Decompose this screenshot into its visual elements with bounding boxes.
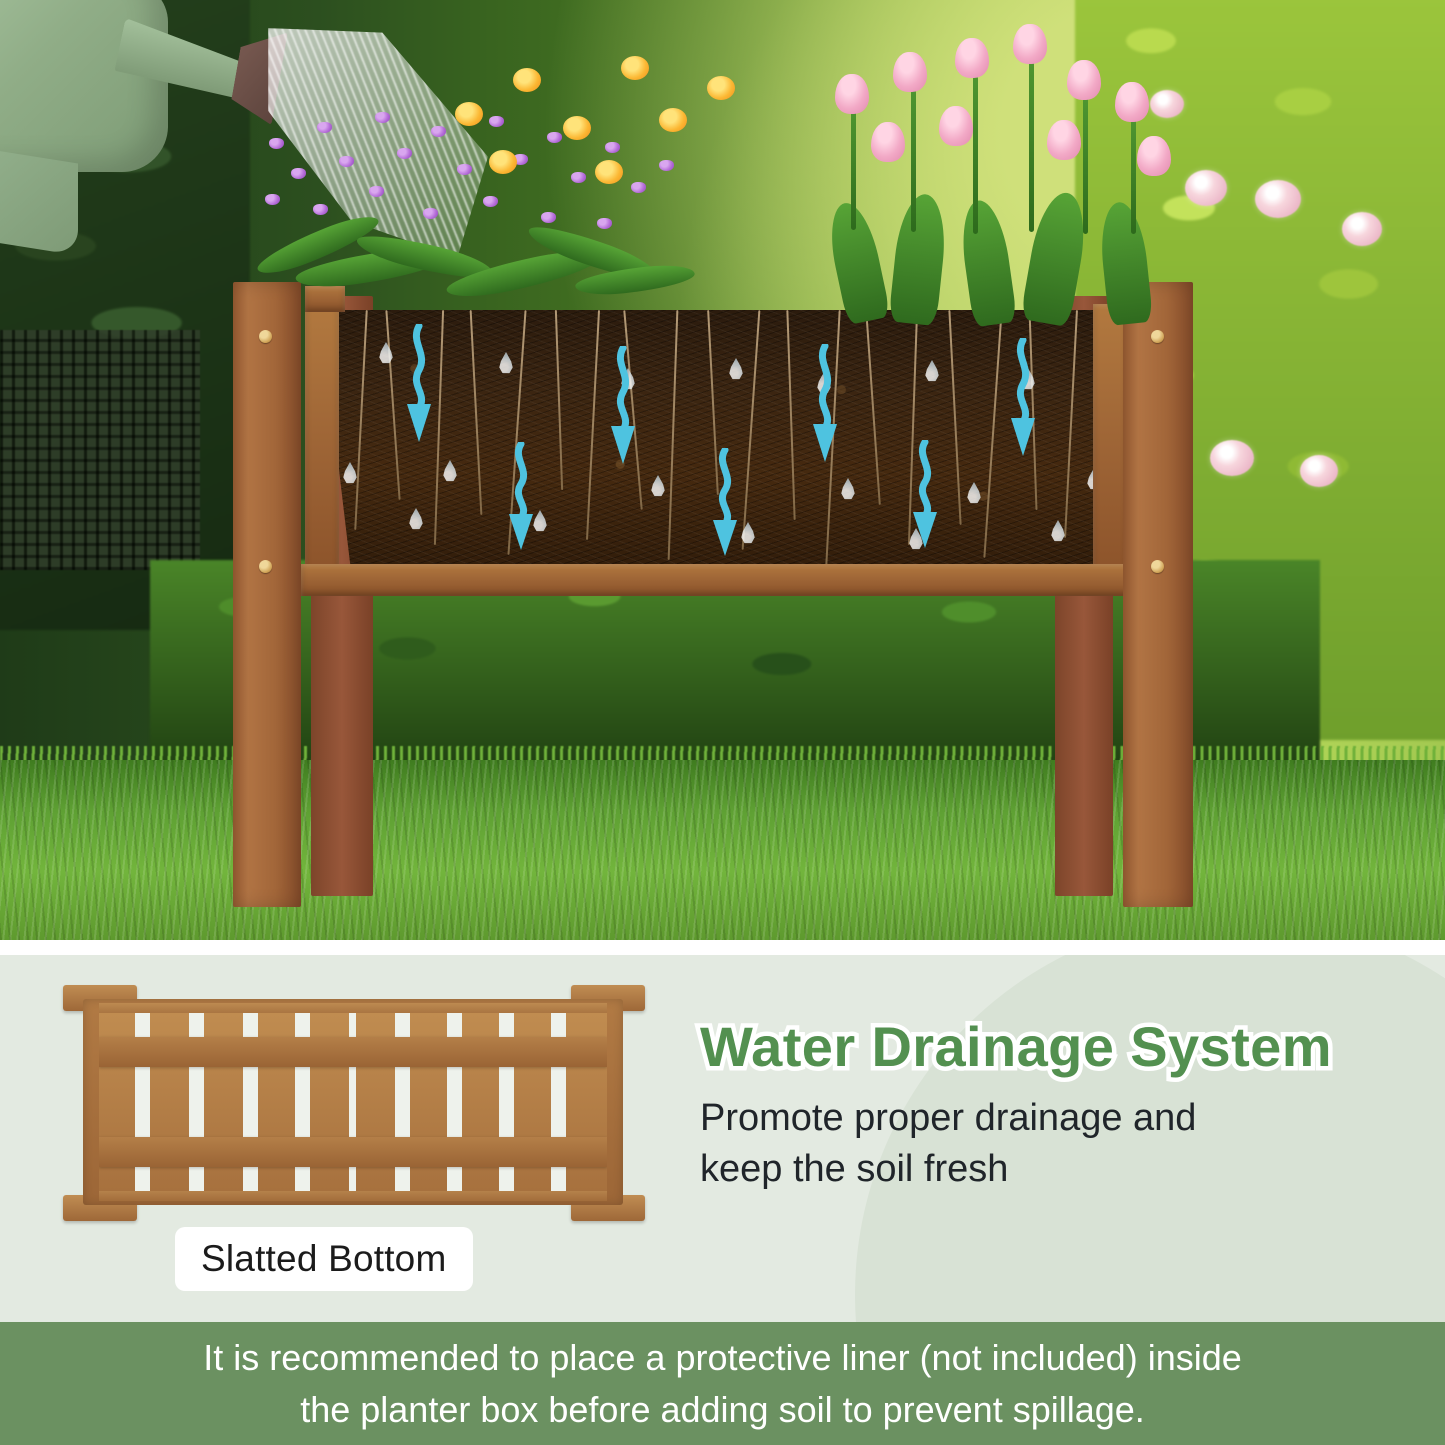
tulip-stem [1083, 98, 1088, 234]
banner-line2: the planter box before adding soil to pr… [24, 1384, 1421, 1435]
tulip-flower [955, 38, 989, 78]
planter-leg-front-left [233, 282, 301, 907]
background-fence [0, 330, 200, 570]
recommendation-banner: It is recommended to place a protective … [0, 1322, 1445, 1445]
planter-rail-left [305, 304, 339, 594]
banner-line1: It is recommended to place a protective … [24, 1332, 1421, 1383]
tulip-stem [851, 110, 856, 230]
brass-screw [1151, 560, 1164, 573]
cross-rail-top [99, 1037, 607, 1067]
slatted-bottom-label: Slatted Bottom [175, 1227, 473, 1291]
copy-block: Water Drainage System Promote proper dra… [700, 1017, 1420, 1195]
plant-root [354, 310, 368, 530]
water-droplet [966, 482, 982, 504]
tulip-flower [871, 122, 905, 162]
tulip-flower [835, 74, 869, 114]
water-droplet [924, 360, 940, 382]
plant-root [668, 310, 679, 560]
tulip-stem [1131, 120, 1136, 234]
orchid-flower [269, 138, 284, 149]
soil-cross-section [320, 310, 1110, 576]
tulip-stem [911, 90, 916, 232]
panel-subtext-line1: Promote proper drainage and [700, 1093, 1420, 1144]
poppy-flower [563, 116, 591, 140]
tulip-flower [1013, 24, 1047, 64]
water-droplet [442, 460, 458, 482]
plant-root [1064, 310, 1078, 538]
plant-root [385, 310, 400, 500]
brass-screw [259, 560, 272, 573]
pink-tulip-cluster [815, 2, 1195, 322]
water-droplet [498, 352, 514, 374]
tulip-leaf [957, 198, 1018, 328]
slatted-bottom-photo: Slatted Bottom [55, 977, 655, 1227]
orchid-flower [369, 186, 384, 197]
orchid-flower [375, 112, 390, 123]
poppy-flower [621, 56, 649, 80]
orchid-flower [541, 212, 556, 223]
water-droplet [532, 510, 548, 532]
orchid-flower [291, 168, 306, 179]
planter-rail-right [1093, 304, 1127, 594]
plant-root [586, 310, 600, 540]
drainage-arrow-icon [912, 440, 934, 550]
orchid-flower [339, 156, 354, 167]
tulip-flower [1047, 120, 1081, 160]
tulip-leaf [888, 192, 949, 326]
plant-root [983, 310, 1002, 558]
water-droplet [378, 342, 394, 364]
product-infographic-page: Slatted Bottom Water Drainage System Pro… [0, 0, 1445, 1445]
tulip-leaf [823, 199, 891, 326]
plant-root [434, 310, 444, 545]
poppy-flower [455, 102, 483, 126]
drainage-arrow-icon [610, 346, 632, 466]
plant-root [786, 310, 795, 520]
banner-text: It is recommended to place a protective … [0, 1332, 1445, 1434]
panel-subtext-line2: keep the soil fresh [700, 1144, 1420, 1195]
orchid-flower [397, 148, 412, 159]
plant-root [742, 310, 761, 550]
orchid-flower [313, 204, 328, 215]
rose-flower [1342, 212, 1382, 246]
orchid-flower [597, 218, 612, 229]
brass-screw [1151, 330, 1164, 343]
plant-leaf [574, 262, 696, 298]
tulip-flower [1067, 60, 1101, 100]
plant-root [470, 310, 483, 515]
poppy-flower [659, 108, 687, 132]
plant-root [555, 310, 563, 490]
drainage-arrow-icon [508, 442, 530, 552]
poppy-flower [595, 160, 623, 184]
water-droplet [408, 508, 424, 530]
water-droplet [728, 358, 744, 380]
orchid-flower [423, 208, 438, 219]
tulip-flower [939, 106, 973, 146]
orchid-flower [431, 126, 446, 137]
tulip-flower [1115, 82, 1149, 122]
rose-flower [1255, 180, 1301, 218]
drainage-arrow-icon [812, 344, 834, 464]
tulip-stem [973, 76, 978, 234]
tulip-leaf [1097, 200, 1154, 326]
poppy-flower [489, 150, 517, 174]
water-droplet [840, 478, 856, 500]
panel-headline: Water Drainage System [700, 1017, 1420, 1077]
orchid-flower [317, 122, 332, 133]
drainage-arrow-icon [406, 324, 428, 444]
poppy-flower [707, 76, 735, 100]
brass-screw [259, 330, 272, 343]
panel-subtext: Promote proper drainage and keep the soi… [700, 1093, 1420, 1195]
drainage-arrow-icon [1010, 338, 1032, 458]
yellow-poppy-cluster [445, 32, 745, 212]
info-panel: Slatted Bottom Water Drainage System Pro… [0, 955, 1445, 1322]
rose-flower [1210, 440, 1254, 476]
water-droplet [650, 475, 666, 497]
hero-photo [0, 0, 1445, 940]
cross-rail-bottom [99, 1137, 607, 1167]
rose-flower [1300, 455, 1338, 487]
raised-planter-box [215, 282, 1215, 907]
planter-rail-bottom [301, 564, 1133, 596]
plant-root [948, 310, 961, 525]
orchid-flower [265, 194, 280, 205]
water-droplet [342, 462, 358, 484]
plant-root [865, 310, 881, 505]
slat-area [99, 1013, 607, 1191]
tulip-stem [1029, 62, 1034, 232]
planter-leg-front-right [1123, 282, 1193, 907]
poppy-flower [513, 68, 541, 92]
drainage-arrow-icon [712, 448, 734, 558]
tulip-flower [893, 52, 927, 92]
tulip-flower [1137, 136, 1171, 176]
